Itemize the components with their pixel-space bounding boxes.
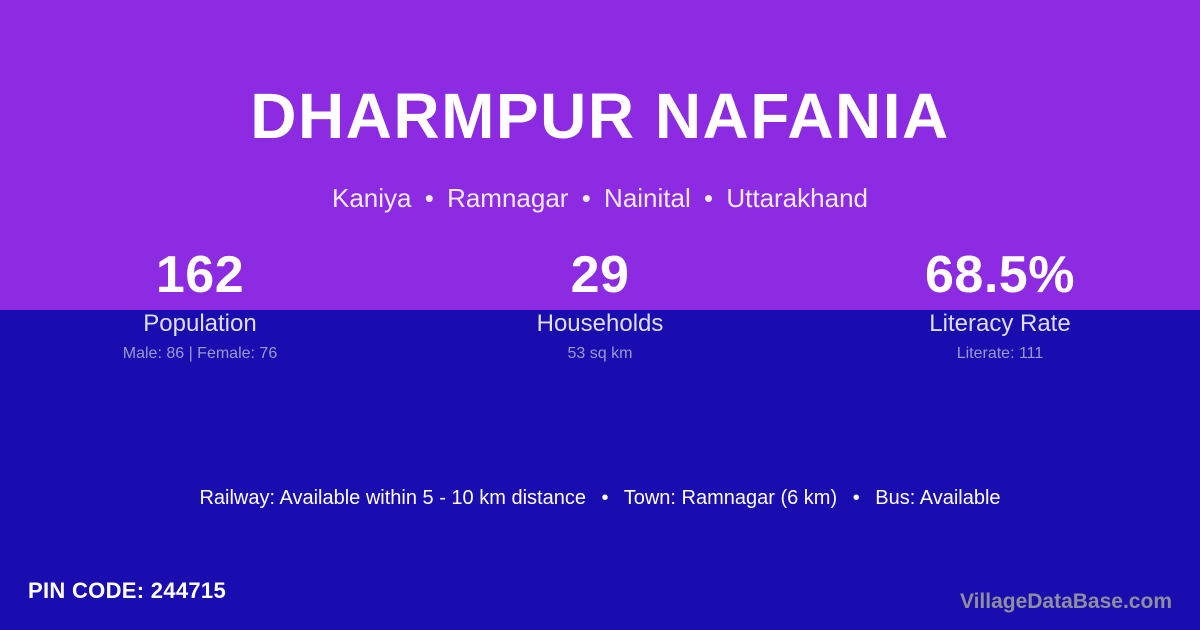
stat-sublabel: Literate: 111 [800,344,1200,364]
stat-sublabel: Male: 86 | Female: 76 [0,344,400,364]
stat-value: 162 [0,246,400,304]
stat-households: 29 Households 53 sq km [400,246,800,386]
stat-literacy-rate: 68.5% Literacy Rate Literate: 111 [800,246,1200,386]
breadcrumb-item-district: Nainital [604,183,691,213]
stat-population: 162 Population Male: 86 | Female: 76 [0,246,400,386]
breadcrumb-item-block: Kaniya [332,183,412,213]
stat-label: Households [400,310,800,338]
infrastructure-item-railway: Railway: Available within 5 - 10 km dist… [199,487,585,509]
infrastructure-item-bus: Bus: Available [875,487,1000,509]
breadcrumb: Kaniya • Ramnagar • Nainital • Uttarakha… [0,183,1200,214]
breadcrumb-separator: • [698,183,719,213]
infrastructure-item-town: Town: Ramnagar (6 km) [624,487,837,509]
stat-sublabel: 53 sq km [400,344,800,364]
site-watermark: VillageDataBase.com [960,589,1172,614]
breadcrumb-item-subdistrict: Ramnagar [447,183,568,213]
stat-label: Population [0,310,400,338]
stat-label: Literacy Rate [800,310,1200,338]
breadcrumb-separator: • [576,183,597,213]
stat-value: 29 [400,246,800,304]
breadcrumb-item-state: Uttarakhand [726,183,868,213]
pin-code: PIN CODE: 244715 [28,578,226,604]
infrastructure-separator: • [592,487,619,509]
breadcrumb-separator: • [419,183,440,213]
infrastructure-separator: • [843,487,870,509]
infrastructure-summary: Railway: Available within 5 - 10 km dist… [0,484,1200,512]
stats-row: 162 Population Male: 86 | Female: 76 29 … [0,246,1200,386]
page-title: DHARMPUR NAFANIA [0,84,1200,148]
village-info-card: DHARMPUR NAFANIA Kaniya • Ramnagar • Nai… [0,0,1200,630]
stat-value: 68.5% [800,246,1200,304]
